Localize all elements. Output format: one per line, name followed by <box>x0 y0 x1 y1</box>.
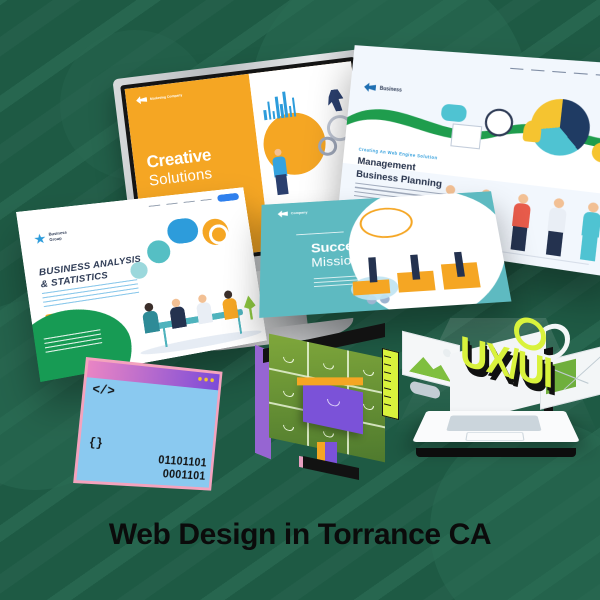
star-logo-icon <box>33 233 46 245</box>
page-title: Web Design in Torrance CA <box>0 518 600 552</box>
person-figure <box>144 302 160 333</box>
person-figure <box>171 298 187 329</box>
card-logo: Business Group <box>33 230 68 245</box>
person-figure <box>548 198 568 257</box>
trackpad <box>465 432 524 440</box>
arrow-logo-icon <box>278 210 288 218</box>
chat-bubble-icon <box>441 104 468 123</box>
plant-icon <box>242 295 257 321</box>
uxui-laptop-mockup: UX/UI <box>398 322 598 492</box>
person-body <box>169 306 186 329</box>
coin-icon <box>591 142 600 164</box>
curly-brace-icon: {} <box>88 436 103 451</box>
filing-cabinet-mockup <box>255 330 395 480</box>
drawer-handle[interactable] <box>323 363 334 370</box>
footer-text-lines <box>44 329 103 356</box>
arrow-logo-icon <box>136 95 148 104</box>
person-legs <box>511 226 528 251</box>
person-legs <box>546 231 563 257</box>
person-body <box>196 302 213 325</box>
drawer-handle[interactable] <box>363 404 374 411</box>
ruler-icon <box>382 348 399 420</box>
person-body <box>512 203 531 229</box>
card-logo-label: Business <box>379 85 402 93</box>
person-figure <box>582 202 600 262</box>
person-figure <box>368 257 377 282</box>
card-logo: Business <box>364 82 403 94</box>
binary-text: 01101101 0001101 <box>156 452 207 482</box>
keyboard-area <box>446 416 541 432</box>
drawer-handle[interactable] <box>283 425 294 432</box>
document-icon <box>450 123 482 149</box>
bar-chart-graphic <box>262 90 297 120</box>
person-body <box>547 207 567 233</box>
mission-illustration <box>342 191 511 312</box>
drawer-handle[interactable] <box>283 391 294 398</box>
card-rule <box>296 231 344 235</box>
card-navbar <box>510 64 600 83</box>
table-leg <box>162 326 167 347</box>
person-figure <box>198 294 213 324</box>
person-body <box>581 211 600 237</box>
stopwatch-icon <box>484 108 515 138</box>
person-legs <box>580 235 598 261</box>
analysis-illustration <box>116 205 266 363</box>
person-legs <box>276 174 289 195</box>
person-figure <box>513 193 532 251</box>
navbar-cta-button[interactable] <box>217 193 239 202</box>
arrow-logo-icon <box>364 82 377 92</box>
lightbulb-icon <box>522 120 542 143</box>
binary-line-2: 0001101 <box>156 466 206 483</box>
speech-bubble <box>146 239 172 265</box>
code-tag-icon: </> <box>92 382 116 399</box>
net-hoop-graphic <box>359 206 415 239</box>
successful-mission-card: Company Successful Mission <box>259 191 511 318</box>
drawer-handle[interactable] <box>323 431 334 438</box>
drawer-handle[interactable] <box>283 357 294 364</box>
running-person-figure <box>326 89 345 113</box>
person-body <box>222 298 239 320</box>
laptop-front-edge <box>416 448 576 457</box>
card-logo: Company <box>278 209 308 218</box>
speech-bubble <box>166 217 200 245</box>
card-logo-label: Business Group <box>48 231 68 243</box>
drawer-handle[interactable] <box>363 370 374 377</box>
code-window-mockup: </> {} 01101101 0001101 <box>73 357 222 491</box>
poster-canvas: Marketing Company Creative Solutions Dig… <box>0 0 600 600</box>
drawer-handle[interactable] <box>327 399 340 408</box>
slide-logo: Marketing Company <box>136 91 183 105</box>
drawer-lip <box>297 377 363 385</box>
person-figure <box>410 255 420 280</box>
person-figure <box>224 290 239 320</box>
person-body <box>142 310 160 333</box>
card-logo-label: Company <box>291 211 308 215</box>
window-control-dots[interactable] <box>198 377 214 382</box>
slide-logo-label: Marketing Company <box>150 93 183 101</box>
